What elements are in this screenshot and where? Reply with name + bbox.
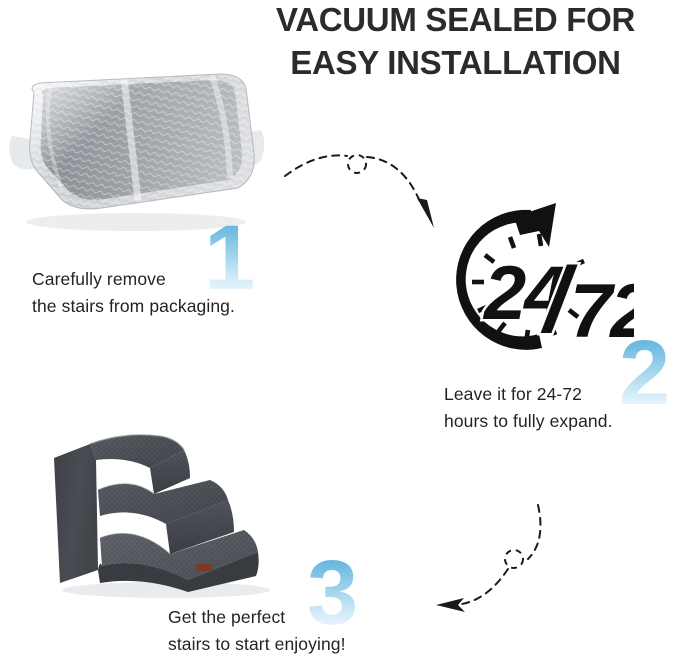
step-2-caption: Leave it for 24-72 hours to fully expand… bbox=[444, 381, 613, 435]
infographic-canvas: VACUUM SEALED FOR EASY INSTALLATION bbox=[0, 0, 679, 663]
clock-24-72-icon: 24 / 72 bbox=[436, 201, 634, 366]
arrow-step2-to-step3 bbox=[428, 503, 594, 622]
pet-stairs-image bbox=[38, 420, 276, 600]
step-number-2: 2 bbox=[619, 327, 670, 419]
arrow-step1-to-step2 bbox=[283, 148, 459, 232]
step-3-caption: Get the perfect stairs to start enjoying… bbox=[168, 604, 346, 658]
step-1-caption: Carefully remove the stairs from packagi… bbox=[32, 266, 235, 320]
page-title: VACUUM SEALED FOR EASY INSTALLATION bbox=[232, 0, 679, 84]
